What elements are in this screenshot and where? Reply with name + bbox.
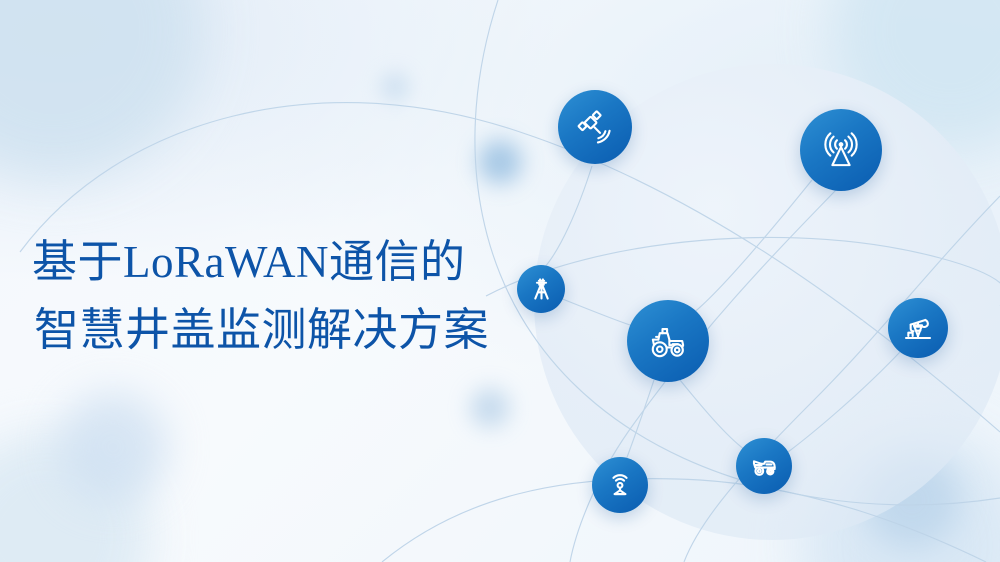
node-tractor[interactable] (627, 300, 709, 382)
node-satellite[interactable] (558, 90, 632, 164)
node-oil-pumpjack[interactable] (888, 298, 948, 358)
wireless-sensor-icon (605, 470, 635, 500)
node-survey-tripod[interactable] (517, 265, 565, 313)
title-line-2: 智慧井盖监测解决方案 (32, 296, 592, 364)
tractor-icon (646, 319, 690, 363)
harvester-vehicle-icon (749, 451, 779, 481)
antenna-tower-icon (819, 128, 863, 172)
oil-pumpjack-icon (902, 312, 934, 344)
node-harvester-vehicle[interactable] (736, 438, 792, 494)
title-slide: 基于LoRaWAN通信的 智慧井盖监测解决方案 (0, 0, 1000, 562)
title-line-1: 基于LoRaWAN通信的 (32, 228, 592, 296)
page-title: 基于LoRaWAN通信的 智慧井盖监测解决方案 (32, 228, 592, 365)
node-wireless-sensor[interactable] (592, 457, 648, 513)
node-antenna-tower[interactable] (800, 109, 882, 191)
survey-tripod-icon (528, 276, 555, 303)
satellite-icon (575, 107, 615, 147)
